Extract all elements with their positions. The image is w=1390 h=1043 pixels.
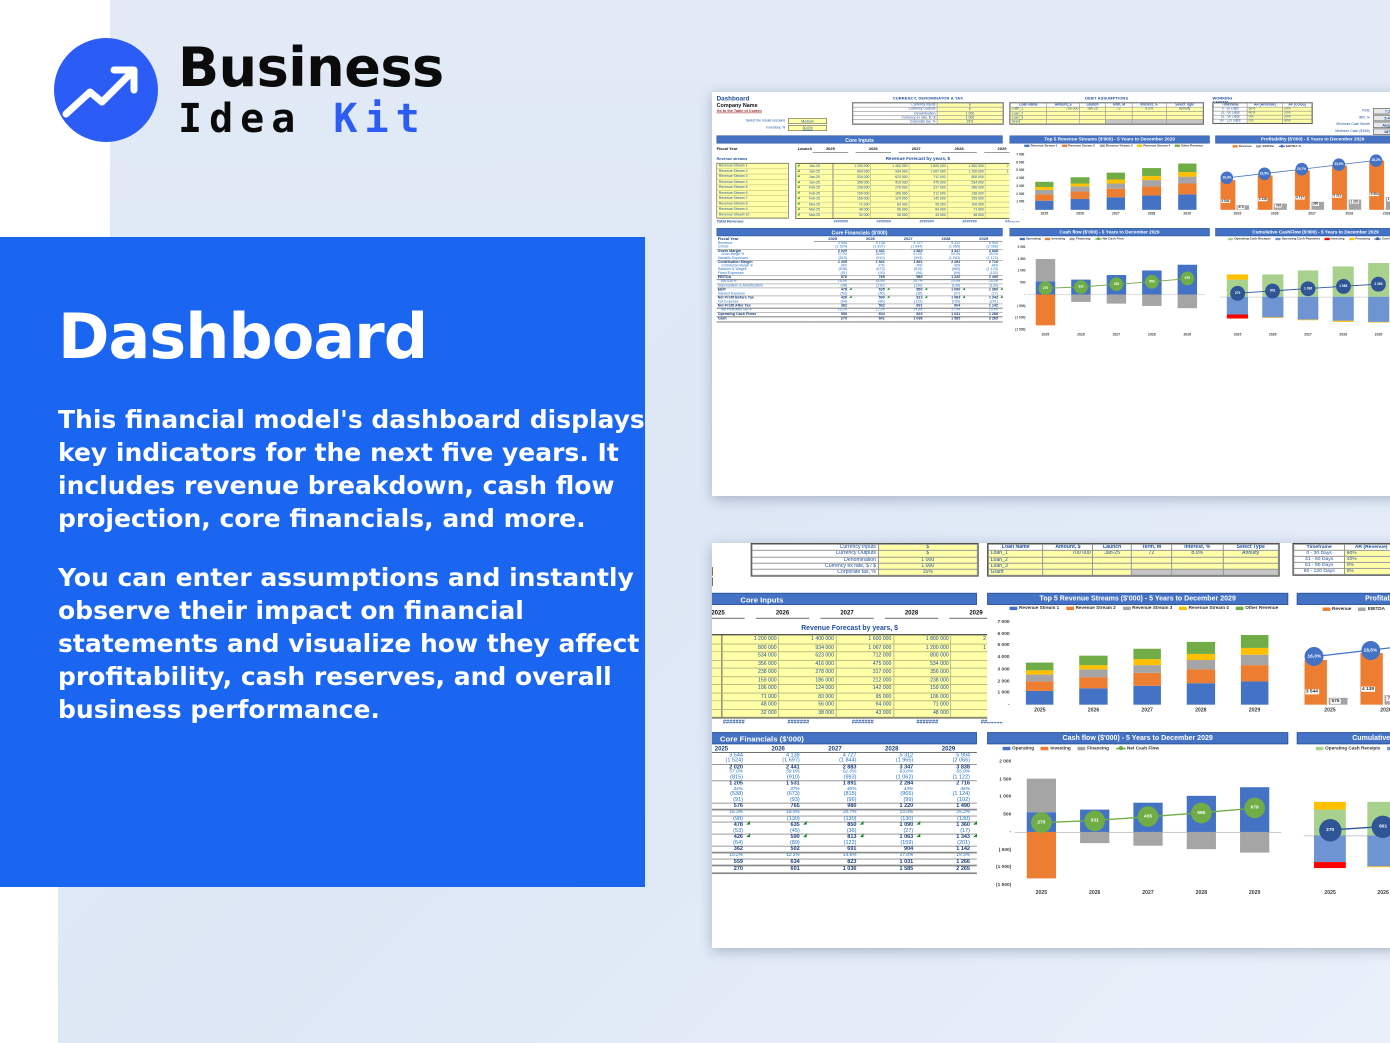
legend-item: Revenue Stream 4 — [1179, 606, 1229, 611]
revenue-value-cell[interactable]: 623 000 — [779, 652, 836, 660]
kpi-value: Aug-25 — [1373, 122, 1390, 128]
y-axis-tick: 2 000 — [987, 759, 1011, 764]
legend-item: EBITDA — [1358, 607, 1385, 612]
legend-label: EBITDA % — [1286, 145, 1301, 148]
stacked-bar-segment — [1035, 194, 1054, 200]
legend-item: Other Revenue — [1236, 606, 1278, 611]
core-financials-cell: 634 — [750, 859, 807, 866]
revenue-value-cell[interactable]: 32 000 — [833, 213, 871, 218]
revenue-value-cell[interactable]: 534 000 — [721, 652, 778, 660]
revenue-value-cell[interactable]: 278 000 — [779, 668, 836, 676]
legend-swatch — [1078, 747, 1086, 750]
stacked-bar-segment — [1133, 686, 1161, 705]
revenue-value-cell[interactable]: 356 000 — [894, 668, 951, 676]
core-financials-banner: Core Financials ($'000) — [717, 228, 1003, 236]
legend-swatch — [1070, 238, 1075, 240]
legend-swatch — [1236, 607, 1244, 610]
chart-revenue-streams[interactable]: Top 5 Revenue Streams ($'000) - 5 Years … — [987, 593, 1288, 722]
x-axis-tick: 2026 — [1062, 212, 1098, 215]
debt-row[interactable]: Grant — [1010, 120, 1203, 124]
x-axis-tick: 2025 — [1304, 890, 1357, 895]
core-financials-cell: 1 036 — [807, 866, 864, 873]
revenue-value-cell[interactable]: 38 000 — [871, 213, 909, 218]
revenue-value-cell[interactable]: 317 000 — [836, 668, 893, 676]
y-axis-tick: 6 000 — [1011, 161, 1025, 164]
inventory-label: Inventory, % — [722, 126, 785, 129]
net-cash-flow-bubble: 331 — [1074, 280, 1088, 294]
revenue-forecast-row[interactable]: Mar-25◢48 00056 00064 00071 00079 000 — [712, 701, 1008, 709]
debt-cell — [1166, 120, 1203, 124]
revenue-value-cell[interactable]: 48 000 — [947, 213, 985, 218]
revenue-value-cell[interactable]: 71 000 — [721, 693, 778, 701]
debt-cell[interactable] — [1046, 120, 1079, 124]
legend-swatch — [1323, 608, 1331, 611]
stacked-bar-segment — [1133, 649, 1161, 659]
legend-label: Operating — [1026, 237, 1041, 240]
stacked-bar-segment — [1241, 648, 1269, 655]
core-inputs-year-header: 2026 — [856, 147, 891, 153]
cumulative-bar-segment — [1262, 317, 1283, 318]
revenue-bar — [1258, 175, 1273, 209]
y-axis-tick: (1 500) — [987, 883, 1011, 888]
revenue-value-cell[interactable]: 1 600 000 — [836, 635, 893, 643]
debt-cell[interactable] — [1080, 120, 1106, 124]
legend-label: Revenue Stream 3 — [1132, 606, 1172, 611]
core-financials-row: EBITDA5767659801 2201 490 — [712, 803, 977, 810]
revenue-launch-cell[interactable]: Jan-25◢ — [712, 652, 721, 660]
ebitda-bar-label: 1 220 — [1350, 200, 1359, 203]
stacked-bar-segment — [1241, 665, 1269, 681]
wc-cell[interactable]: 40% — [1283, 119, 1312, 123]
debt-row[interactable]: Grant — [988, 569, 1278, 575]
revenue-forecast-row[interactable]: Jan-25◢534 000623 000712 000800 000890 0… — [712, 652, 1008, 660]
stacked-bar-segment — [1178, 184, 1197, 194]
chart-cash-flow[interactable]: Cash flow ($'000) - 5 Years to December … — [1009, 228, 1209, 342]
core-financials-cell: 823 — [807, 859, 864, 866]
revenue-forecast-grid: Jan-25◢1 200 0001 400 0001 600 0001 800 … — [712, 634, 1010, 718]
dashboard-screenshot-bottom[interactable]: DashboardCompany NameGo to the Table of … — [712, 543, 1390, 948]
revenue-bar — [1304, 660, 1326, 704]
stacked-bar-segment — [1133, 665, 1161, 673]
stacked-bar-segment — [1080, 677, 1108, 688]
revenue-bar-label: 4 138 — [1258, 198, 1267, 201]
revenue-value-cell[interactable]: 186 000 — [779, 676, 836, 684]
legend-item: Operating — [1020, 237, 1041, 240]
x-axis-tick: 2027 — [1099, 333, 1134, 336]
legend-line-marker — [1279, 146, 1285, 147]
working-capital-table: TimeframeAR (Revenue)AP (COGS)0 - 30 Day… — [1293, 543, 1390, 576]
revenue-launch-cell[interactable]: Mar-25◢ — [712, 693, 721, 701]
stacked-bar-segment — [1142, 186, 1161, 195]
revenue-value-cell[interactable]: 48 000 — [894, 709, 951, 717]
legend-label: Revenue Stream 2 — [1076, 606, 1116, 611]
revenue-forecast-row[interactable]: Mar-25◢32 00038 00043 00048 00053 000 — [712, 709, 1008, 717]
cash-balance-bubble: 1 036 — [1301, 281, 1316, 296]
total-revenue-value: ####### — [820, 719, 873, 725]
comment-flag-icon: ◢ — [797, 213, 799, 216]
revenue-forecast-row[interactable]: Feb-25◢106 000124 000142 000159 000176 0… — [712, 684, 1008, 692]
cumulative-bar-segment — [1314, 802, 1346, 810]
chart-profitability[interactable]: Profitability ($'000) - 5 Years to Decem… — [1215, 135, 1390, 221]
x-axis-tick: 2026 — [1068, 890, 1121, 895]
legend-item: Revenue — [1233, 145, 1252, 148]
core-financials-cell: 2 265 — [920, 866, 977, 873]
revenue-forecast-row[interactable]: Mar-25◢32 00038 00043 00048 00053 000 — [796, 213, 1023, 218]
revenue-value-cell[interactable]: 159 000 — [721, 676, 778, 684]
stacked-bar-segment — [1178, 194, 1197, 210]
revenue-value-cell[interactable]: 416 000 — [779, 660, 836, 668]
spreadsheet-canvas: DashboardCompany NameGo to the Table of … — [712, 543, 1142, 948]
kpi-label: ROE — [1318, 109, 1369, 112]
wc-row[interactable]: 90 - 120 Days0%40% — [1294, 569, 1390, 575]
hero-paragraph-1: This financial model's dashboard display… — [58, 403, 658, 535]
debt-block-title: DEBT ASSUMPTIONS — [1009, 97, 1203, 101]
hero-paragraph-2: You can enter assumptions and instantly … — [58, 561, 658, 726]
chart-legend: Revenue Stream 1Revenue Stream 2Revenue … — [1024, 144, 1208, 147]
revenue-value-cell[interactable]: 238 000 — [894, 676, 951, 684]
revenue-launch-cell[interactable]: Feb-25◢ — [712, 668, 721, 676]
debt-cell[interactable]: Grant — [988, 569, 1042, 575]
revenue-value-cell[interactable]: 534 000 — [894, 660, 951, 668]
y-axis-tick: 5 000 — [1011, 169, 1025, 172]
revenue-value-cell[interactable]: 106 000 — [721, 684, 778, 692]
stacked-bar-segment — [1107, 189, 1126, 197]
inventory-input[interactable]: 30.0% — [712, 577, 713, 586]
revenue-value-cell[interactable]: 106 000 — [894, 693, 951, 701]
cashflow-bar-segment — [1026, 832, 1056, 878]
revenue-value-cell[interactable]: 800 000 — [721, 644, 778, 652]
scenario-select[interactable]: Medium — [788, 118, 827, 124]
core-financials-cell: 502 — [750, 846, 807, 853]
revenue-value-cell[interactable]: 1 200 000 — [721, 635, 778, 643]
revenue-value-cell[interactable]: 159 000 — [894, 684, 951, 692]
cashflow-bar-segment — [1026, 779, 1056, 812]
core-inputs-banner: Core Inputs — [717, 135, 1003, 143]
stacked-bar-segment — [1035, 187, 1054, 190]
stacked-bar-segment — [1187, 669, 1215, 683]
revenue-value-cell[interactable]: 800 000 — [894, 652, 951, 660]
revenue-launch-cell[interactable]: Feb-25◢ — [712, 676, 721, 684]
currency-table: Currency Inputs$Currency Outputs$Denomin… — [852, 102, 1004, 125]
cumulative-bar-segment — [1297, 297, 1318, 320]
revenue-forecast-title: Revenue Forecast by years, $ — [712, 624, 1004, 632]
revenue-launch-cell[interactable]: Mar-25◢ — [712, 709, 721, 717]
legend-item: EBITDA — [1256, 145, 1274, 148]
y-axis-tick: (1 500) — [1009, 328, 1025, 331]
chart-title: Cash flow ($'000) - 5 Years to December … — [987, 732, 1288, 744]
cumulative-bar-segment — [1368, 297, 1389, 323]
x-axis-tick: 2026 — [1357, 890, 1390, 895]
revenue-launch-cell[interactable]: Mar-25◢ — [712, 701, 721, 709]
cash-balance-bubble: 2 265 — [1371, 277, 1386, 292]
stacked-bar-segment — [1178, 164, 1197, 173]
revenue-forecast-grid: Jan-25◢1 200 0001 400 0001 600 0001 800 … — [796, 163, 1025, 219]
legend-item: Revenue Stream 3 — [1123, 606, 1173, 611]
chart-cumulative-cashflow[interactable]: Cumulative CashFlow ($'000) - 5 Years to… — [1297, 732, 1390, 904]
cumulative-bar-segment — [1227, 274, 1248, 279]
revenue-value-cell[interactable]: 712 000 — [836, 652, 893, 660]
x-axis-tick: 2028 — [1134, 333, 1169, 336]
revenue-value-cell[interactable]: 32 000 — [721, 709, 778, 717]
core-financials-cell: 2 265 — [965, 317, 1003, 322]
cumulative-bar-segment — [1333, 297, 1354, 321]
kpi-label: Minimum Cash ($'000) — [1318, 130, 1369, 133]
y-axis-tick: 500 — [987, 812, 1011, 817]
x-axis-tick: 2026 — [1358, 708, 1390, 713]
revenue-bar-label: 5 312 — [1333, 194, 1342, 197]
legend-label: Operating — [1012, 746, 1034, 751]
chart-cash-flow[interactable]: Cash flow ($'000) - 5 Years to December … — [987, 732, 1288, 904]
legend-item: Net Cash Flow — [1116, 746, 1159, 751]
revenue-value-cell[interactable]: 475 000 — [836, 660, 893, 668]
cumulative-bar-segment — [1367, 866, 1390, 867]
chart-title: Cumulative CashFlow ($'000) - 5 Years to… — [1215, 228, 1390, 236]
chart-legend: OperatingInvestingFinancingNet Cash Flow — [1020, 237, 1209, 240]
revenue-value-cell[interactable]: 212 000 — [836, 676, 893, 684]
stacked-bar-segment — [1071, 183, 1090, 186]
chart-revenue-streams[interactable]: Top 5 Revenue Streams ($'000) - 5 Years … — [1009, 135, 1209, 221]
comment-flag-icon: ◢ — [797, 197, 799, 200]
y-axis-tick: 7 000 — [989, 620, 1010, 625]
revenue-forecast-row[interactable]: Jan-25◢800 000934 0001 067 0001 200 0001… — [712, 644, 1008, 652]
currency-row-value[interactable]: 15% — [878, 569, 977, 575]
currency-block-title: CURRENCY, DENOMINATOR & TAX — [852, 97, 1004, 101]
y-axis-tick: 1 000 — [989, 690, 1010, 695]
revenue-value-cell[interactable]: 95 000 — [836, 693, 893, 701]
stacked-bar-segment — [1187, 654, 1215, 660]
revenue-value-cell[interactable]: 43 000 — [909, 213, 947, 218]
legend-item: Operating — [1003, 746, 1034, 751]
debt-table: Loan NameAmount, $LaunchTerm, MInterest,… — [1009, 102, 1203, 125]
revenue-forecast-row[interactable]: Jan-25◢1 200 0001 400 0001 600 0001 800 … — [712, 635, 1008, 643]
revenue-stream-name[interactable]: Revenue Stream 10 — [717, 212, 788, 217]
revenue-value-cell[interactable]: 83 000 — [779, 693, 836, 701]
wc-cell: 90 - 120 Days — [1213, 119, 1247, 123]
total-revenue-label: Total Revenue — [717, 220, 744, 224]
y-axis-tick: 7 000 — [1011, 153, 1025, 156]
revenue-value-cell[interactable]: 142 000 — [836, 684, 893, 692]
revenue-value-cell[interactable]: 71 000 — [894, 701, 951, 709]
comment-flag-icon: ◢ — [797, 186, 799, 189]
dashboard-screenshot-top[interactable]: DashboardCompany NameGo to the Table of … — [712, 92, 1390, 496]
debt-cell[interactable] — [1043, 569, 1093, 575]
y-axis-tick: 1 500 — [987, 777, 1011, 782]
spreadsheet-canvas: DashboardCompany NameGo to the Table of … — [712, 92, 1112, 412]
net-cash-flow-bubble: 331 — [1084, 810, 1105, 831]
revenue-launch-cell[interactable]: Jan-25◢ — [712, 660, 721, 668]
x-axis-tick: 2025 — [1027, 212, 1063, 215]
brand-logo: Business Idea Kit — [52, 36, 444, 144]
legend-label: Financing — [1076, 237, 1091, 240]
legend-label: Net Cash Flow — [1127, 746, 1159, 751]
chart-legend: Operating Cash ReceiptsOperating Cash Pa… — [1316, 746, 1390, 751]
chart-legend: RevenueEBITDAEBITDA % — [1233, 145, 1390, 148]
legend-item: Financing — [1078, 746, 1109, 751]
chart-cumulative-cashflow[interactable]: Cumulative CashFlow ($'000) - 5 Years to… — [1215, 228, 1390, 342]
cumulative-bar-segment — [1314, 862, 1346, 868]
revenue-value-cell[interactable]: 934 000 — [779, 644, 836, 652]
y-axis-tick: 4 000 — [1011, 177, 1025, 180]
y-axis-tick: - — [987, 830, 1011, 835]
revenue-forecast-row[interactable]: Mar-25◢71 00083 00095 000106 000118 000 — [712, 693, 1008, 701]
ebitda-bar-label: 576 — [1331, 698, 1341, 703]
revenue-value-cell[interactable]: 124 000 — [779, 684, 836, 692]
stacked-bar-segment — [1142, 196, 1161, 210]
revenue-bar-label: 3 544 — [1221, 200, 1230, 203]
legend-label: Revenue Stream 4 — [1189, 606, 1229, 611]
legend-label: Other Revenue — [1181, 144, 1203, 147]
revenue-value-cell[interactable]: 43 000 — [836, 709, 893, 717]
revenue-value-cell[interactable]: 1 200 000 — [894, 644, 951, 652]
x-axis-tick: 2029 — [1228, 708, 1282, 713]
core-inputs-year-header: 2028 — [941, 147, 976, 153]
legend-line-marker — [1116, 748, 1125, 750]
core-inputs-year-header: 2027 — [820, 610, 873, 619]
wc-row[interactable]: 90 - 120 Days0%40% — [1213, 119, 1311, 123]
chart-profitability[interactable]: Profitability ($'000) - 5 Years to Decem… — [1297, 593, 1390, 722]
revenue-launch-cell[interactable]: Jan-25◢ — [712, 644, 721, 652]
scenario-label: Select the model scenario — [722, 119, 785, 122]
x-axis-tick: 2025 — [1028, 333, 1063, 336]
legend-swatch — [1024, 145, 1029, 147]
x-axis-tick: 2027 — [1293, 212, 1330, 215]
legend-label: Financing — [1355, 237, 1370, 240]
table-of-contents-link[interactable]: Go to the Table of Conten — [717, 109, 762, 113]
stacked-bar-segment — [1107, 180, 1126, 184]
legend-swatch — [1041, 747, 1049, 750]
revenue-bar-label: 5 904 — [1370, 193, 1379, 196]
revenue-value-cell[interactable]: 238 000 — [721, 668, 778, 676]
cumulative-bar-segment — [1367, 835, 1390, 866]
revenue-value-cell[interactable]: 38 000 — [779, 709, 836, 717]
cashflow-bar-segment — [1106, 295, 1126, 304]
stacked-bar-segment — [1026, 681, 1054, 690]
stacked-bar-segment — [1107, 173, 1126, 180]
legend-label: Operating Cash Payments — [1282, 237, 1320, 240]
stacked-bar-segment — [1178, 177, 1197, 184]
revenue-value-cell[interactable]: 48 000 — [721, 701, 778, 709]
x-axis-tick: 2026 — [1255, 333, 1290, 336]
y-axis-tick: 2 000 — [1009, 246, 1025, 249]
core-financials-cell: 691 — [807, 846, 864, 853]
debt-cell[interactable] — [1093, 569, 1131, 575]
ebitda-bar-label: 765 — [1387, 696, 1390, 701]
cashflow-bar-segment — [1080, 832, 1110, 843]
legend-swatch — [1316, 747, 1324, 750]
total-revenue-value: ####### — [885, 719, 938, 725]
revenue-value-cell[interactable]: 56 000 — [779, 701, 836, 709]
revenue-launch-cell[interactable]: Feb-25◢ — [712, 684, 721, 692]
revenue-forecast-row[interactable]: Jan-25◢356 000416 000475 000534 000594 0… — [712, 660, 1008, 668]
stacked-bar-segment — [1187, 683, 1215, 704]
total-revenue-value: ####### — [712, 719, 745, 725]
revenue-value-cell[interactable]: 1 400 000 — [779, 635, 836, 643]
stacked-bar-segment — [1035, 182, 1054, 187]
kpi-label: IRR, % — [1318, 116, 1369, 119]
debt-cell — [1172, 569, 1224, 575]
revenue-value-cell[interactable]: 1 800 000 — [894, 635, 951, 643]
legend-item: Investing — [1045, 237, 1065, 240]
legend-label: Revenue Stream 4 — [1143, 144, 1170, 147]
legend-label: Cash balance — [1382, 237, 1390, 240]
revenue-value-cell[interactable]: 1 067 000 — [836, 644, 893, 652]
currency-row-label: Corporate tax, % — [853, 120, 937, 124]
inventory-input[interactable]: 30.0% — [788, 125, 827, 131]
cumulative-bar-segment — [1227, 314, 1248, 318]
cumulative-bar-segment — [1262, 297, 1283, 318]
chart-title: Top 5 Revenue Streams ($'000) - 5 Years … — [1009, 135, 1209, 143]
stacked-bar-segment — [1142, 168, 1161, 176]
stacked-bar-segment — [1142, 180, 1161, 186]
y-axis-tick: ( 500) — [1009, 305, 1025, 308]
y-axis-tick: (1 000) — [1009, 316, 1025, 319]
x-axis-tick: 2027 — [1098, 212, 1134, 215]
x-axis-tick: 2028 — [1134, 212, 1170, 215]
legend-item: Revenue Stream 2 — [1066, 606, 1116, 611]
revenue-value-cell[interactable]: 64 000 — [836, 701, 893, 709]
core-financials-cell: 765 — [750, 803, 807, 810]
net-cash-flow-bubble: 270 — [1039, 281, 1053, 295]
stacked-bar-segment — [1080, 656, 1108, 665]
stacked-bar-segment — [1026, 675, 1054, 681]
currency-row: Corporate tax, %15% — [752, 569, 977, 575]
x-axis-tick: 2026 — [1063, 333, 1098, 336]
wc-cell[interactable]: 0% — [1247, 119, 1282, 123]
legend-swatch — [1325, 238, 1330, 240]
scenario-select[interactable]: Medium — [712, 567, 713, 576]
currency-row-value[interactable]: 15% — [937, 120, 1003, 124]
currency-table: Currency Inputs$Currency Outputs$Denomin… — [751, 543, 979, 577]
core-inputs-year-header: 2027 — [898, 147, 933, 153]
stacked-bar-segment — [1080, 665, 1108, 670]
legend-item: Operating Cash Receipts — [1316, 746, 1381, 751]
legend-label: Revenue Stream 1 — [1031, 144, 1058, 147]
legend-item: Investing — [1041, 746, 1071, 751]
chart-legend: OperatingInvestingFinancingNet Cash Flow — [1003, 746, 1287, 751]
ebitda-percent-bubble: 20,7% — [1295, 163, 1308, 176]
revenue-value-cell[interactable]: 356 000 — [721, 660, 778, 668]
core-financials-cell: 1 220 — [863, 803, 920, 810]
revenue-forecast-row[interactable]: Feb-25◢159 000186 000212 000238 000264 0… — [712, 676, 1008, 684]
revenue-forecast-row[interactable]: Feb-25◢238 000278 000317 000356 000396 0… — [712, 668, 1008, 676]
ebitda-bar-label: 765 — [1275, 204, 1281, 207]
stacked-bar-segment — [1026, 663, 1054, 671]
legend-label: Revenue — [1239, 145, 1252, 148]
wc-cell[interactable]: 0% — [1345, 569, 1390, 575]
revenue-launch-cell[interactable]: Mar-25◢ — [796, 213, 832, 218]
x-axis-tick: 2025 — [1013, 708, 1067, 713]
core-inputs-banner: Core Inputs — [712, 593, 977, 605]
legend-label: EBITDA — [1368, 607, 1385, 612]
revenue-launch-cell[interactable]: Jan-25◢ — [712, 635, 721, 643]
debt-cell[interactable]: Grant — [1010, 120, 1046, 124]
comment-flag-icon: ◢ — [797, 175, 799, 178]
comment-flag-icon: ◢ — [974, 834, 977, 838]
y-axis-tick: 500 — [1009, 281, 1025, 284]
stacked-bar-segment — [1241, 681, 1269, 705]
legend-item: EBITDA % — [1279, 145, 1301, 148]
comment-flag-icon: ◢ — [1000, 296, 1002, 299]
core-financials-cell: 1 585 — [927, 317, 965, 322]
legend-swatch — [1062, 145, 1067, 147]
legend-item: Net Cash Flow — [1095, 237, 1124, 240]
comment-flag-icon: ◢ — [1000, 288, 1002, 291]
stacked-bar-segment — [1026, 691, 1054, 705]
chart-title: Profitability ($'000) - 5 Years to Decem… — [1215, 135, 1390, 143]
legend-label: Revenue — [1332, 607, 1351, 612]
legend-swatch — [1175, 145, 1180, 147]
y-axis-tick: 2 000 — [1011, 192, 1025, 195]
